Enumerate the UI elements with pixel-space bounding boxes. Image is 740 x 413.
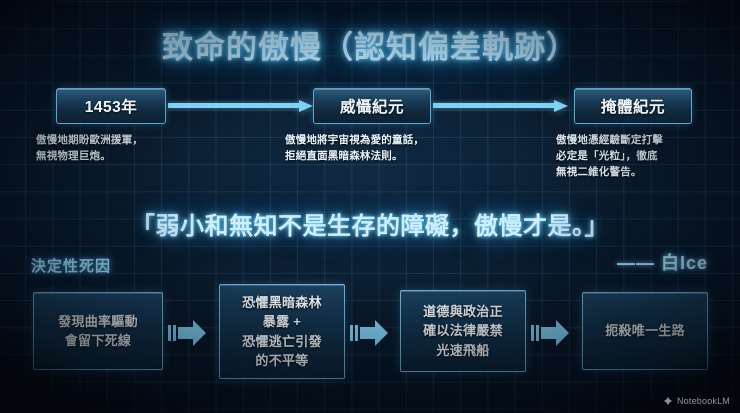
timeline-desc-3: 傲慢地憑經驗斷定打擊必定是「光粒」，徹底無視二維化警告。 — [556, 133, 736, 181]
arrow-tick — [173, 325, 176, 341]
timeline-label-2: 威懾紀元 — [340, 95, 404, 117]
arrow-right-icon — [299, 100, 313, 112]
timeline-box-3: 掩體紀元 — [574, 88, 692, 124]
timeline-desc-2: 傲慢地將宇宙視為愛的童話，拒絕直面黑暗森林法則。 — [285, 133, 535, 165]
watermark-label: NotebookLM — [677, 396, 730, 406]
flow-step-4: 扼殺唯一生路 — [582, 292, 708, 370]
arrow-tick — [355, 325, 358, 341]
quote-text: 「弱小和無知不是生存的障礙，傲慢才是。」 — [0, 206, 740, 241]
block-arrow-right-icon — [541, 318, 569, 348]
quote-attribution: —— 白Ice — [617, 249, 708, 275]
timeline-box-1: 1453年 — [56, 88, 166, 124]
arrow-shaft — [433, 103, 555, 108]
flow-step-label-4: 扼殺唯一生路 — [605, 321, 685, 341]
arrow-tick — [531, 325, 534, 341]
arrow-right-icon — [554, 100, 568, 112]
timeline-desc-1: 傲慢地期盼歐洲援軍，無視物理巨炮。 — [36, 133, 276, 165]
notebooklm-logo-icon — [663, 396, 673, 406]
arrow-tick — [536, 325, 539, 341]
arrow-shaft — [168, 103, 300, 108]
flow-step-label-3: 道德與政治正確以法律嚴禁光速飛船 — [423, 302, 503, 361]
timeline-arrow-2 — [433, 100, 569, 110]
flow-step-1: 發現曲率驅動會留下死線 — [33, 292, 163, 370]
flow-section-heading: 決定性死因 — [31, 255, 111, 276]
watermark: NotebookLM — [663, 396, 730, 406]
flow-arrow-3 — [531, 318, 569, 348]
timeline-label-3: 掩體紀元 — [601, 95, 665, 117]
page-title: 致命的傲慢（認知偏差軌跡） — [0, 22, 740, 67]
slide-canvas: 致命的傲慢（認知偏差軌跡） 1453年 威懾紀元 掩體紀元 傲慢地期盼歐洲援軍，… — [0, 0, 740, 413]
arrow-tick — [350, 325, 353, 341]
arrow-tick — [168, 325, 171, 341]
flow-step-3: 道德與政治正確以法律嚴禁光速飛船 — [400, 290, 526, 372]
flow-arrow-1 — [168, 318, 206, 348]
timeline-label-1: 1453年 — [85, 95, 137, 117]
timeline-arrow-1 — [168, 100, 313, 110]
flow-step-label-1: 發現曲率驅動會留下死線 — [58, 312, 138, 351]
timeline-box-2: 威懾紀元 — [313, 88, 431, 124]
flow-step-2: 恐懼黑暗森林暴露 +恐懼逃亡引發的不平等 — [219, 284, 345, 379]
block-arrow-right-icon — [178, 318, 206, 348]
flow-arrow-2 — [350, 318, 388, 348]
flow-step-label-2: 恐懼黑暗森林暴露 +恐懼逃亡引發的不平等 — [242, 293, 322, 371]
block-arrow-right-icon — [360, 318, 388, 348]
